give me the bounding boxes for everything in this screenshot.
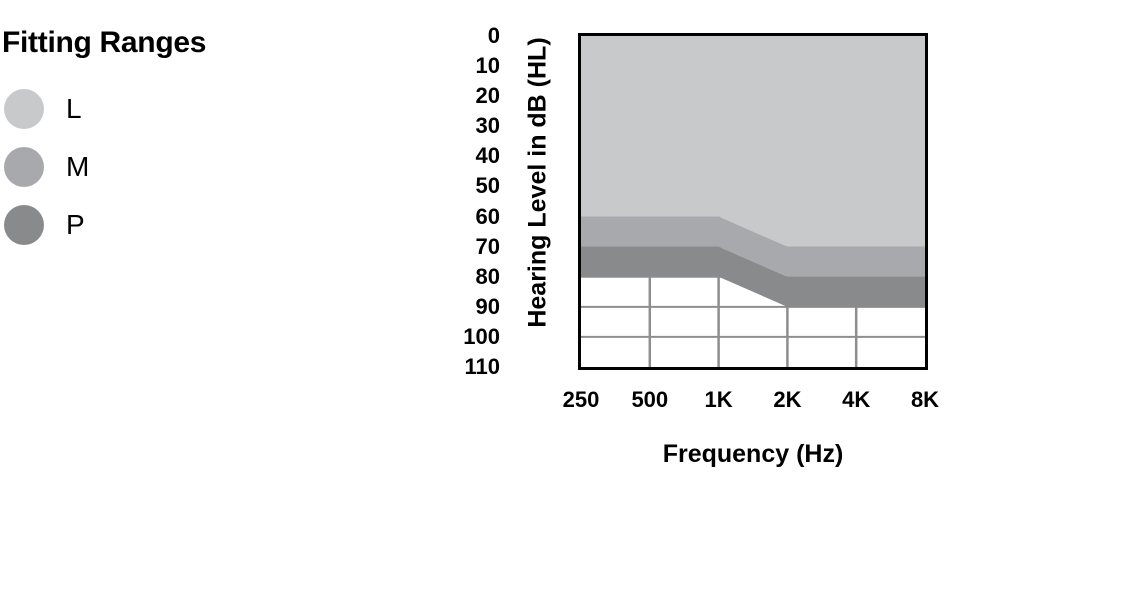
x-tick-8K: 8K — [885, 389, 965, 411]
legend-swatch-p-icon — [4, 205, 44, 245]
y-tick-40: 40 — [476, 145, 500, 167]
y-tick-0: 0 — [488, 25, 500, 47]
legend-swatch-l-icon — [4, 89, 44, 129]
y-tick-100: 100 — [463, 326, 500, 348]
plot-area — [578, 33, 928, 370]
legend-item-m: M — [0, 138, 300, 196]
x-axis-title: Frequency (Hz) — [578, 440, 928, 469]
legend-label-m: M — [66, 153, 89, 181]
fitting-range-areas — [581, 36, 925, 367]
legend-label-p: P — [66, 211, 85, 239]
chart-container: Hearing Level in dB (HL) 010203040506070… — [446, 0, 986, 500]
legend-item-p: P — [0, 196, 300, 254]
legend-swatch-m-icon — [4, 147, 44, 187]
y-tick-80: 80 — [476, 266, 500, 288]
legend-panel: Fitting Ranges L M P — [0, 28, 300, 254]
y-tick-70: 70 — [476, 236, 500, 258]
fitting-range-band-l — [581, 36, 925, 247]
y-tick-50: 50 — [476, 175, 500, 197]
y-tick-10: 10 — [476, 55, 500, 77]
y-tick-60: 60 — [476, 206, 500, 228]
y-tick-110: 110 — [465, 356, 501, 378]
y-tick-90: 90 — [476, 296, 500, 318]
legend-title: Fitting Ranges — [2, 28, 300, 58]
y-axis-title: Hearing Level in dB (HL) — [524, 3, 553, 363]
audiogram-fitting-range-figure: Fitting Ranges L M P Hearing Level in dB… — [0, 0, 1140, 600]
legend-item-l: L — [0, 80, 300, 138]
y-tick-20: 20 — [476, 85, 500, 107]
legend-label-l: L — [66, 95, 82, 123]
y-tick-30: 30 — [476, 115, 500, 137]
